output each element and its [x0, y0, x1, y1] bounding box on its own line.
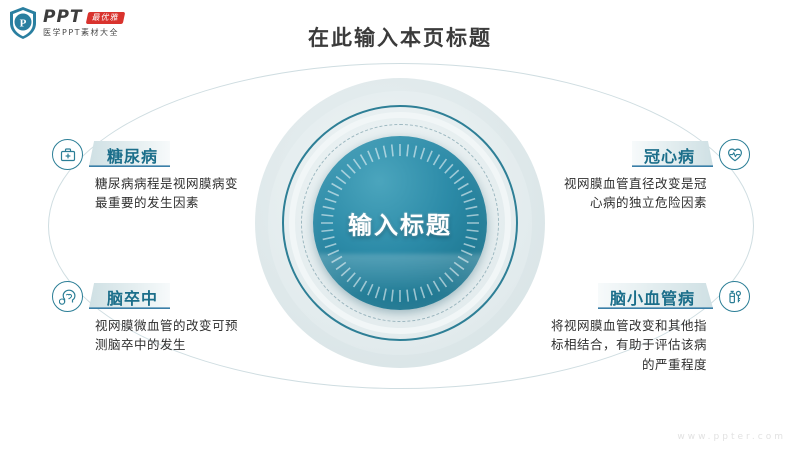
card-chd-body: 视网膜血管直径改变是冠 心病的独立危险因素	[518, 174, 750, 213]
card-diabetes-header: 糖尿病	[52, 141, 282, 168]
core-reflection	[313, 254, 487, 296]
card-csvd-header: 脑小血管病	[508, 283, 750, 310]
card-chd-title: 冠心病	[644, 143, 695, 167]
card-diabetes-title: 糖尿病	[107, 143, 158, 167]
card-chd[interactable]: 冠心病 视网膜血管直径改变是冠 心病的独立危险因素	[518, 141, 750, 213]
card-chd-header: 冠心病	[518, 141, 750, 168]
footer-watermark: www.ppter.com	[677, 432, 786, 442]
card-stroke-header: 脑卒中	[52, 283, 282, 310]
card-stroke-body: 视网膜微血管的改变可预 测脑卒中的发生	[52, 316, 282, 355]
card-stroke[interactable]: 脑卒中 视网膜微血管的改变可预 测脑卒中的发生	[52, 283, 282, 355]
card-csvd-body: 将视网膜血管改变和其他指 标相结合，有助于评估该病 的严重程度	[508, 316, 750, 374]
center-circle[interactable]: 输入标题	[313, 136, 487, 310]
heart-pulse-icon[interactable]	[719, 139, 750, 170]
page-title: 在此输入本页标题	[0, 22, 800, 52]
first-aid-kit-icon[interactable]	[52, 139, 83, 170]
card-diabetes-body: 糖尿病病程是视网膜病变 最重要的发生因素	[52, 174, 282, 213]
card-diabetes-banner: 糖尿病	[89, 141, 170, 168]
card-chd-banner: 冠心病	[632, 141, 713, 168]
head-brain-icon[interactable]	[52, 281, 83, 312]
card-csvd-banner: 脑小血管病	[598, 283, 713, 310]
vial-key-icon[interactable]	[719, 281, 750, 312]
slide-canvas: 输入标题 P PPT 最优雅 医学PPT素材大全 在此输入本页标题	[0, 0, 800, 450]
center-title: 输入标题	[313, 206, 487, 241]
card-csvd[interactable]: 脑小血管病 将视网膜血管改变和其他指 标相结合，有助于评估该病 的严重程度	[508, 283, 750, 374]
card-stroke-title: 脑卒中	[107, 285, 158, 309]
card-stroke-banner: 脑卒中	[89, 283, 170, 310]
card-csvd-title: 脑小血管病	[610, 285, 695, 309]
card-diabetes[interactable]: 糖尿病 糖尿病病程是视网膜病变 最重要的发生因素	[52, 141, 282, 213]
